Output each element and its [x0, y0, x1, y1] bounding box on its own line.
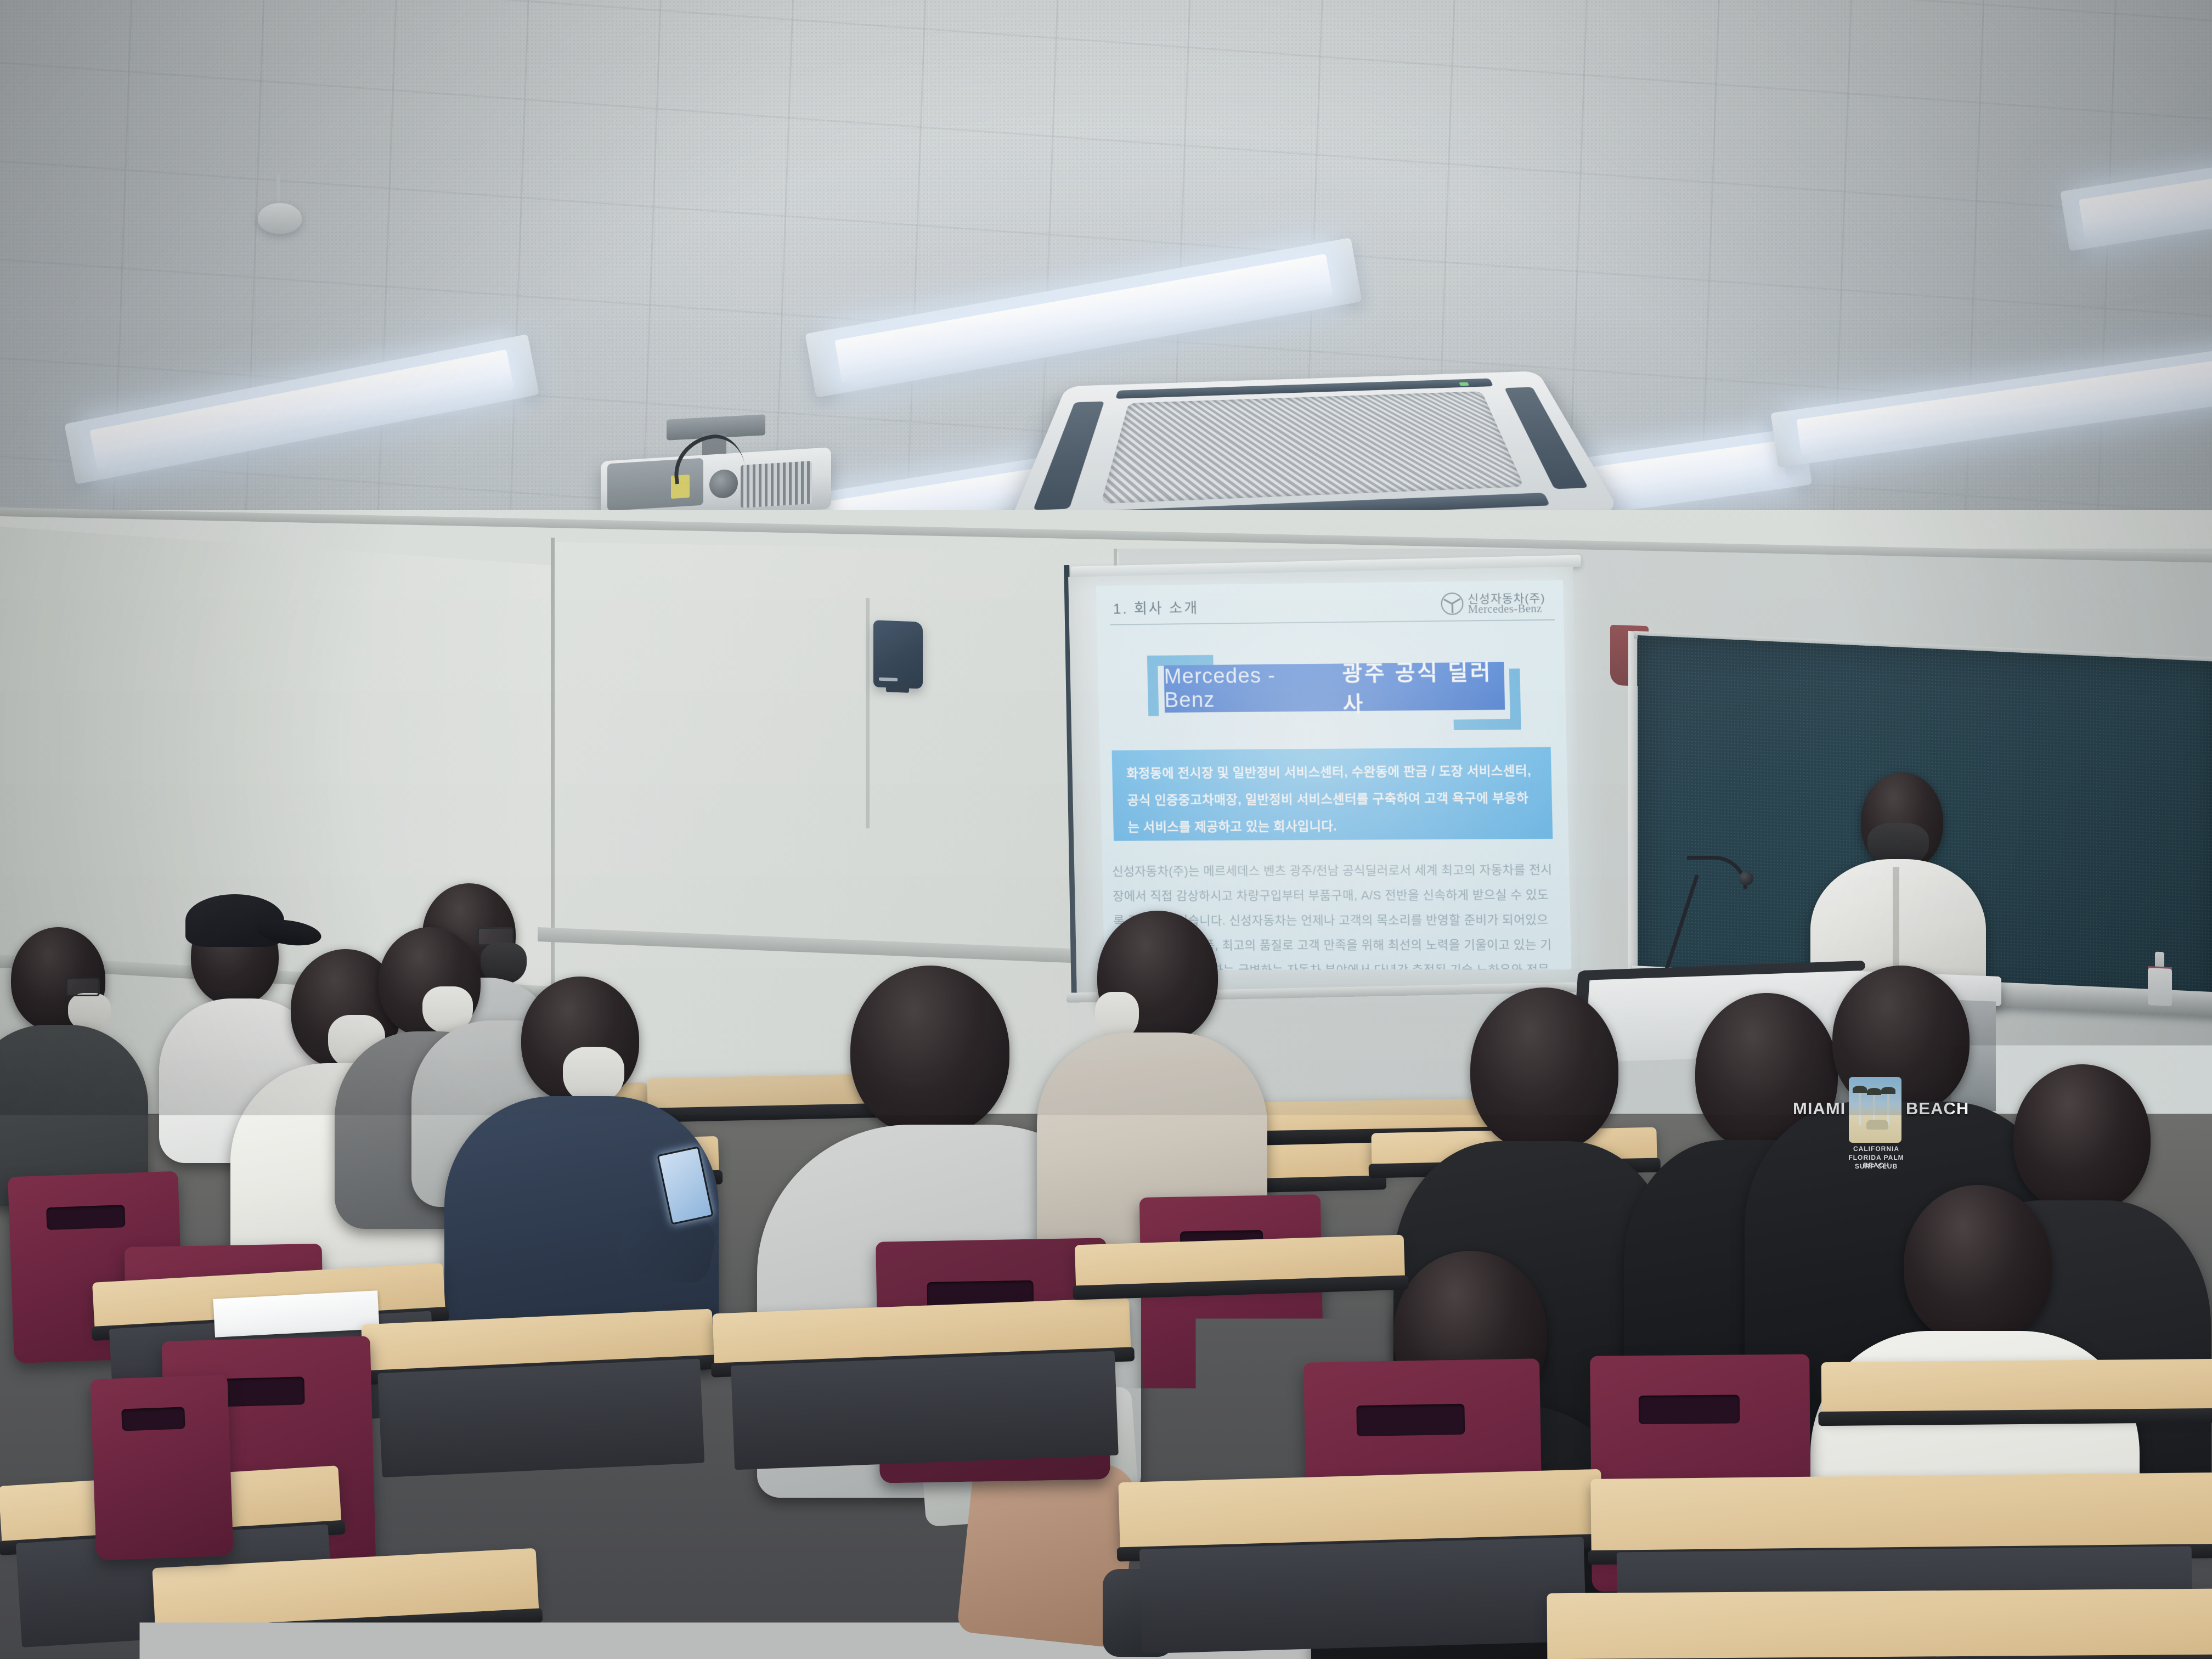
slide-highlight-text: 화정동에 전시장 및 일반정비 서비스센터, 수완동에 판금 / 도장 서비스센… — [1126, 757, 1538, 840]
chair-left-4[interactable] — [90, 1375, 233, 1561]
shirt-subtext-3: SURF CLUB — [1843, 1163, 1909, 1170]
shirt-subtext-1: CALIFORNIA — [1843, 1145, 1909, 1153]
wall-conduit — [866, 598, 870, 828]
desk-foreground-7 — [1118, 1469, 1602, 1553]
speaker-bracket — [886, 684, 909, 693]
student-head — [850, 966, 1009, 1136]
slide-banner: Mercedes - Benz 광주 공식 딜러사 — [1164, 662, 1505, 713]
ac-grille — [1101, 391, 1524, 504]
slide-header-rule — [1110, 619, 1555, 625]
ceiling-projector-icon — [601, 439, 831, 516]
desk-foreground-9 — [910, 1574, 1405, 1659]
microphone-head-icon — [1739, 871, 1753, 885]
slide-header-title: 1. 회사 소개 — [1113, 597, 1199, 618]
student-head — [1904, 1185, 2052, 1344]
desk-foreground-8 — [1590, 1472, 2212, 1556]
desk-foreground-10 — [1547, 1589, 2212, 1659]
student-face-mask — [563, 1047, 624, 1104]
smoke-detector-icon — [258, 203, 302, 234]
presenter-shirt-placket — [1893, 867, 1899, 966]
shirt-graphic: MIAMI BEACH CALIFORNIA FLORIDA PALM BEAC… — [1793, 1073, 1957, 1171]
slide-banner-block: Mercedes - Benz 광주 공식 딜러사 — [1147, 652, 1521, 732]
hand-sanitizer-icon — [2148, 968, 2172, 1006]
projector-vent — [741, 461, 812, 508]
ac-status-led — [1459, 382, 1470, 386]
shirt-beach-image — [1849, 1077, 1901, 1143]
desk-foreground-11 — [1821, 1359, 2212, 1417]
student-1 — [0, 927, 154, 1190]
speaker-brand-plate — [879, 678, 898, 681]
student-head — [1470, 988, 1618, 1152]
slide-header: 1. 회사 소개 신성자동차(주) Mercedes-Benz — [1096, 580, 1564, 627]
banner-korean-text: 광주 공식 딜러사 — [1342, 655, 1505, 719]
company-logo: 신성자동차(주) Mercedes-Benz — [1438, 587, 1551, 618]
smoke-detector-stem — [277, 174, 280, 205]
mercedes-star-icon — [1441, 592, 1464, 615]
student-glasses-icon — [66, 978, 100, 996]
logo-english-text: Mercedes-Benz — [1468, 603, 1543, 617]
classroom-photo-scene: 1. 회사 소개 신성자동차(주) Mercedes-Benz Mercedes… — [0, 0, 2212, 1659]
desk-foreground-6 — [1075, 1235, 1405, 1291]
shirt-text-miami: MIAMI — [1793, 1099, 1846, 1119]
wall-speaker-icon — [873, 620, 923, 689]
slide-highlight-box: 화정동에 전시장 및 일반정비 서비스센터, 수완동에 판금 / 도장 서비스센… — [1112, 747, 1553, 841]
chalkboard-left-edge — [1628, 631, 1637, 994]
banner-english-text: Mercedes - Benz — [1164, 664, 1323, 713]
chair-center-2[interactable] — [1139, 1194, 1324, 1401]
